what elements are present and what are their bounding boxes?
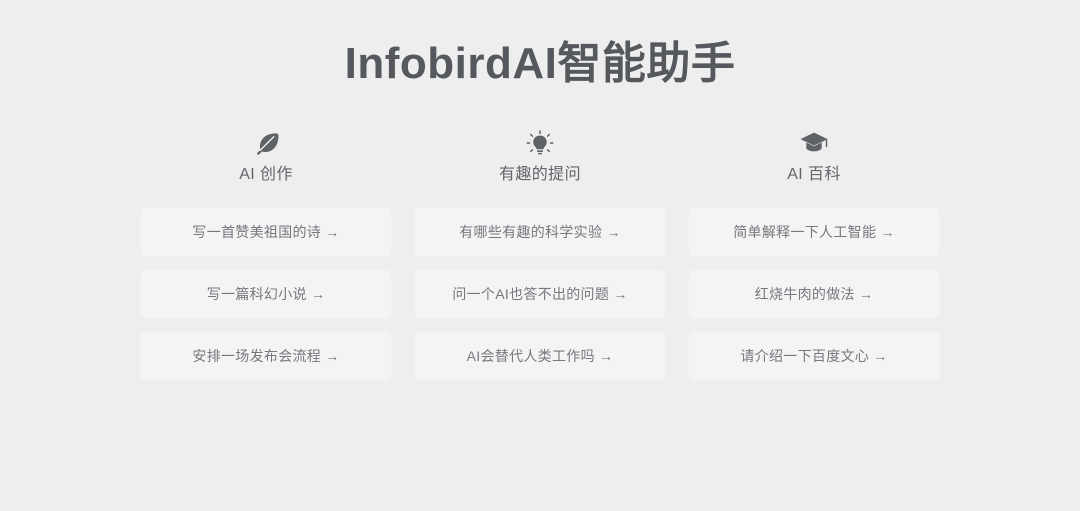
suggestion-card-label: 红烧牛肉的做法 → [755,284,874,304]
suggestion-card-label: AI会替代人类工作吗 → [467,346,614,366]
lightbulb-icon [525,125,555,159]
graduation-cap-icon [798,125,830,159]
suggestion-card[interactable]: 红烧牛肉的做法 → [688,269,940,319]
column-title: AI 创作 [239,167,293,183]
suggestion-card[interactable]: 写一首赞美祖国的诗 → [140,207,392,257]
suggestion-column-ai-creation: AI 创作 写一首赞美祖国的诗 → 写一篇科幻小说 → 安排一场发布会流程 → [140,125,392,381]
suggestion-card[interactable]: 写一篇科幻小说 → [140,269,392,319]
suggestion-card-label: 简单解释一下人工智能 → [733,222,895,242]
suggestion-card-label: 写一首赞美祖国的诗 → [192,222,339,242]
suggestion-card-label: 安排一场发布会流程 → [192,346,339,366]
column-title: AI 百科 [787,167,841,183]
suggestion-column-fun-questions: 有趣的提问 有哪些有趣的科学实验 → 问一个AI也答不出的问题 → AI会替代人… [414,125,666,381]
suggestion-card[interactable]: 安排一场发布会流程 → [140,331,392,381]
suggestion-columns: AI 创作 写一首赞美祖国的诗 → 写一篇科幻小说 → 安排一场发布会流程 → [0,125,1080,381]
suggestion-card-list: 写一首赞美祖国的诗 → 写一篇科幻小说 → 安排一场发布会流程 → [140,207,392,381]
suggestion-card-label: 问一个AI也答不出的问题 → [452,284,627,304]
suggestion-card[interactable]: AI会替代人类工作吗 → [414,331,666,381]
suggestion-card[interactable]: 请介绍一下百度文心 → [688,331,940,381]
assistant-welcome-page: InfobirdAI智能助手 AI 创作 写一首赞美祖国的诗 → 写一篇科幻小说… [0,0,1080,511]
suggestion-card-list: 简单解释一下人工智能 → 红烧牛肉的做法 → 请介绍一下百度文心 → [688,207,940,381]
suggestion-card[interactable]: 简单解释一下人工智能 → [688,207,940,257]
suggestion-card-label: 写一篇科幻小说 → [207,284,326,304]
suggestion-column-ai-encyclopedia: AI 百科 简单解释一下人工智能 → 红烧牛肉的做法 → 请介绍一下百度文心 → [688,125,940,381]
page-title: InfobirdAI智能助手 [0,0,1080,91]
suggestion-card-label: 请介绍一下百度文心 → [740,346,887,366]
suggestion-card[interactable]: 问一个AI也答不出的问题 → [414,269,666,319]
column-title: 有趣的提问 [499,167,581,183]
feather-quill-icon [251,125,281,159]
suggestion-card-label: 有哪些有趣的科学实验 → [459,222,621,242]
suggestion-card-list: 有哪些有趣的科学实验 → 问一个AI也答不出的问题 → AI会替代人类工作吗 → [414,207,666,381]
suggestion-card[interactable]: 有哪些有趣的科学实验 → [414,207,666,257]
